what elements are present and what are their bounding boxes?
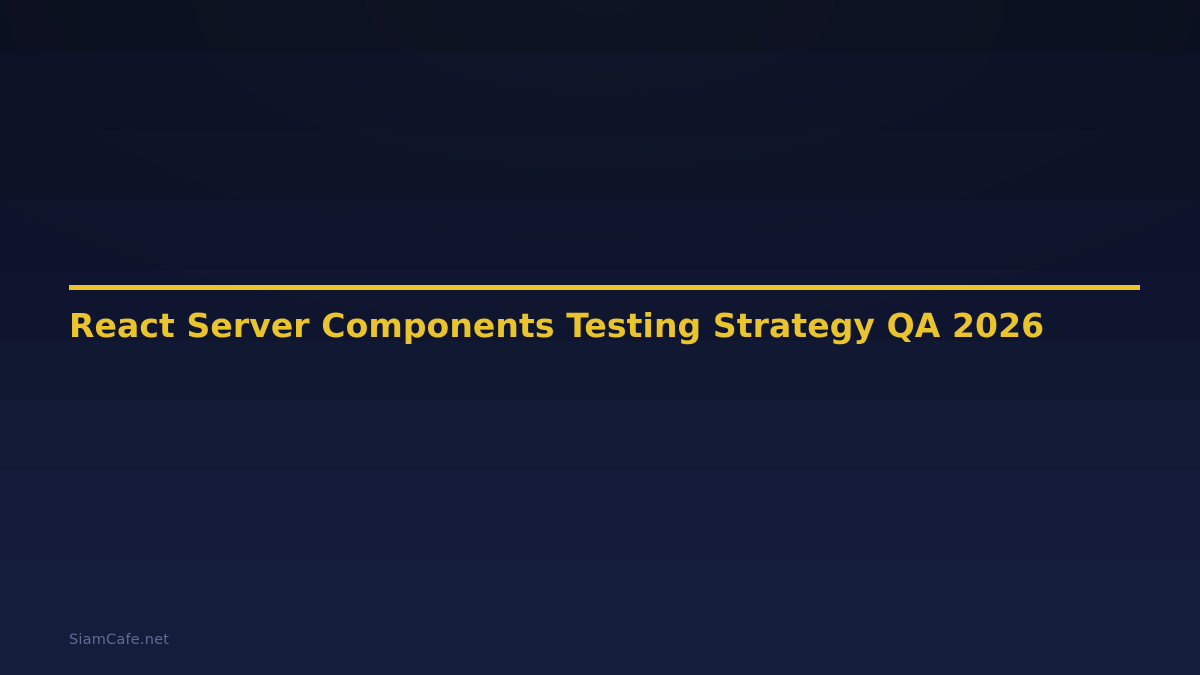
slide-content-block: React Server Components Testing Strategy… — [69, 285, 1140, 345]
slide-footer: SiamCafe.net — [69, 630, 169, 650]
footer-brand-label: SiamCafe.net — [69, 630, 169, 650]
title-accent-rule — [69, 285, 1140, 290]
presentation-slide: React Server Components Testing Strategy… — [0, 0, 1200, 675]
slide-title: React Server Components Testing Strategy… — [69, 307, 1140, 345]
